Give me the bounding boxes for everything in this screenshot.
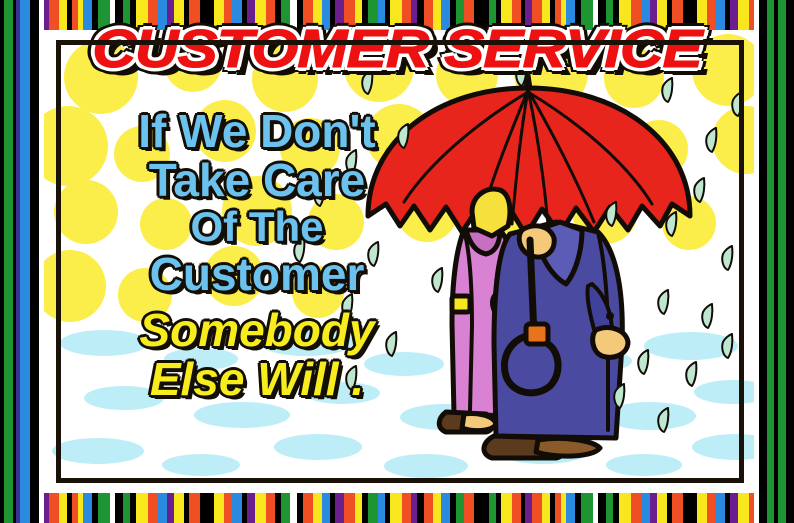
border-stripe xyxy=(641,493,650,523)
border-stripe xyxy=(417,493,424,523)
raindrop-icon xyxy=(664,210,681,239)
border-stripe xyxy=(174,493,184,523)
border-stripe xyxy=(232,493,242,523)
border-stripe xyxy=(532,493,542,523)
border-stripe xyxy=(98,493,110,523)
border-stripe xyxy=(224,493,232,523)
raindrop-icon xyxy=(636,348,653,377)
message-line-5: Somebody xyxy=(62,307,452,353)
border-stripe xyxy=(390,493,402,523)
border-stripe xyxy=(512,493,521,523)
border-stripe xyxy=(456,493,464,523)
border-stripe xyxy=(730,493,738,523)
border-stripe xyxy=(214,493,224,523)
border-stripe xyxy=(683,493,697,523)
border-stripe xyxy=(136,493,148,523)
border-stripe xyxy=(335,493,344,523)
border-stripe xyxy=(474,493,483,523)
border-stripe xyxy=(424,493,433,523)
raindrop-icon xyxy=(612,382,629,411)
man-hand-lower xyxy=(593,328,628,358)
border-stripe xyxy=(266,493,275,523)
page-title: CUSTOMER SERVICE xyxy=(0,18,794,80)
border-stripe xyxy=(657,493,667,523)
message-line-1: If We Don't xyxy=(62,108,452,154)
raindrop-icon xyxy=(684,360,701,389)
border-stripe xyxy=(631,493,641,523)
puddle xyxy=(162,454,240,476)
border-stripe xyxy=(598,493,606,523)
puddle xyxy=(194,402,290,428)
border-stripe xyxy=(355,493,362,523)
raindrop-icon xyxy=(704,126,721,155)
customer-service-poster: If We Don't Take Care Of The Customer So… xyxy=(0,0,794,523)
border-stripe xyxy=(542,493,550,523)
message-line-4: Customer xyxy=(62,251,452,297)
border-stripe xyxy=(581,493,593,523)
border-stripe xyxy=(313,493,322,523)
border-stripe xyxy=(59,493,67,523)
border-stripe xyxy=(606,493,613,523)
raindrop-icon xyxy=(730,90,747,119)
puddle xyxy=(274,434,362,460)
message-line-6: Else Will . xyxy=(62,356,452,402)
border-stripe xyxy=(189,493,200,523)
border-stripe xyxy=(402,493,411,523)
border-stripe xyxy=(83,493,92,523)
border-stripe xyxy=(378,493,385,523)
border-stripe xyxy=(566,493,575,523)
raindrop-icon xyxy=(604,200,621,229)
border-stripe xyxy=(707,493,715,523)
border-stripe xyxy=(167,493,174,523)
border-stripe xyxy=(697,493,707,523)
border-stripe xyxy=(255,493,266,523)
puddle xyxy=(52,438,144,464)
raindrop-icon xyxy=(700,302,717,331)
border-stripe xyxy=(290,493,297,523)
raindrop-icon xyxy=(720,332,737,361)
message-line-2: Take Care xyxy=(62,157,452,203)
man-coat-button xyxy=(606,312,614,320)
border-stripe xyxy=(344,493,355,523)
border-stripe xyxy=(464,493,474,523)
raindrop-icon xyxy=(660,76,677,105)
border-stripe xyxy=(368,493,378,523)
woman-hair xyxy=(472,189,510,236)
border-stripe xyxy=(322,493,330,523)
raindrop-icon xyxy=(656,288,673,317)
border-stripe xyxy=(672,493,683,523)
man-hand-upper xyxy=(519,226,554,257)
border-stripe xyxy=(619,493,631,523)
border-stripe xyxy=(200,493,214,523)
raindrop-icon xyxy=(720,244,737,273)
border-stripe xyxy=(303,493,313,523)
border-stripe xyxy=(247,493,255,523)
message-line-3: Of The xyxy=(62,206,452,248)
woman-belt-buckle xyxy=(452,296,470,312)
border-stripe xyxy=(650,493,657,523)
border-stripe xyxy=(115,493,123,523)
man-shoe-right xyxy=(536,438,600,456)
border-stripe xyxy=(158,493,167,523)
poster-face: If We Don't Take Care Of The Customer So… xyxy=(44,30,754,493)
border-stripes-bottom xyxy=(0,493,794,523)
woman-shoe-detail xyxy=(462,413,496,430)
border-stripe xyxy=(715,493,725,523)
raindrop-icon xyxy=(692,176,709,205)
border-stripe xyxy=(281,493,290,523)
border-stripe xyxy=(441,493,450,523)
border-stripe xyxy=(49,493,59,523)
border-stripe xyxy=(489,493,496,523)
border-stripe xyxy=(148,493,158,523)
man-belt-buckle xyxy=(526,324,548,344)
message-block: If We Don't Take Care Of The Customer So… xyxy=(62,108,452,405)
border-stripe xyxy=(123,493,130,523)
border-stripe xyxy=(501,493,512,523)
border-stripe xyxy=(738,493,749,523)
border-stripe xyxy=(525,493,532,523)
border-stripe xyxy=(433,493,441,523)
raindrop-icon xyxy=(656,406,673,435)
